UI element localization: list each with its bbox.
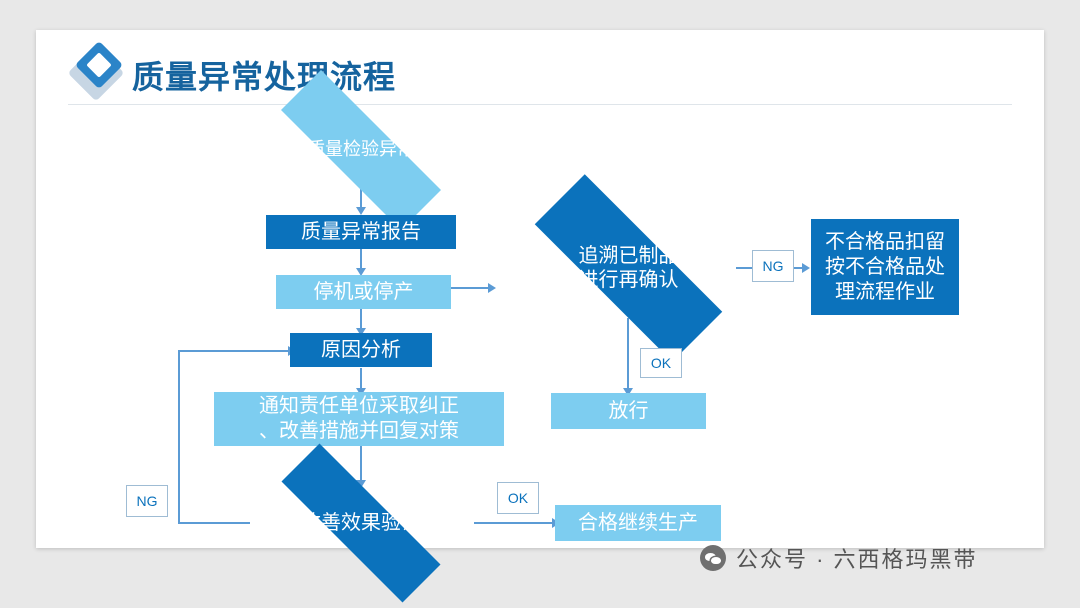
connector-cause-notify: [360, 368, 362, 390]
connector-verify-continue: [474, 522, 554, 524]
page-title: 质量异常处理流程: [132, 52, 396, 98]
node-verify[interactable]: 改善效果验证: [240, 485, 482, 561]
node-notify[interactable]: 通知责任单位采取纠正 、改善措施并回复对策: [214, 392, 504, 446]
header-divider: [68, 104, 1012, 105]
connector-stop-trace: [450, 287, 490, 289]
connector-notify-verify: [360, 444, 362, 482]
node-trace[interactable]: 追溯已制品 进行再确认: [491, 218, 766, 318]
connector-verify-loop-v: [178, 350, 180, 524]
connector-report-stop: [360, 248, 362, 270]
arrow-start-report: [356, 207, 366, 215]
edge-label-ok-verify: OK: [497, 482, 539, 514]
node-stop[interactable]: 停机或停产: [276, 275, 451, 309]
node-start-label: 质量检验异常: [307, 139, 415, 161]
node-report[interactable]: 质量异常报告: [266, 215, 456, 249]
node-continue[interactable]: 合格继续生产: [555, 505, 721, 541]
node-cause[interactable]: 原因分析: [290, 333, 432, 367]
node-trace-label: 追溯已制品 进行再确认: [579, 244, 679, 293]
node-verify-label: 改善效果验证: [301, 511, 421, 535]
slide-canvas: 质量异常处理流程 质量检验异常 质量异常报告 停机或停产 追溯已制品 进行再: [36, 30, 1044, 548]
arrow-trace-hold: [802, 263, 810, 273]
watermark: 公众号 · 六西格玛黑带: [700, 542, 978, 574]
edge-label-ng-verify: NG: [126, 485, 168, 517]
diamond-logo-icon: [68, 45, 128, 105]
node-start[interactable]: 质量检验异常: [241, 110, 481, 190]
connector-stop-cause: [360, 308, 362, 330]
watermark-text: 公众号 · 六西格玛黑带: [736, 542, 978, 574]
wechat-icon: [700, 545, 726, 571]
node-hold[interactable]: 不合格品扣留 按不合格品处 理流程作业: [811, 219, 959, 315]
connector-verify-loop-h2: [178, 350, 290, 352]
edge-label-ng-trace: NG: [752, 250, 794, 282]
edge-label-ok-trace: OK: [640, 348, 682, 378]
node-release[interactable]: 放行: [551, 393, 706, 429]
connector-trace-release: [627, 318, 629, 390]
